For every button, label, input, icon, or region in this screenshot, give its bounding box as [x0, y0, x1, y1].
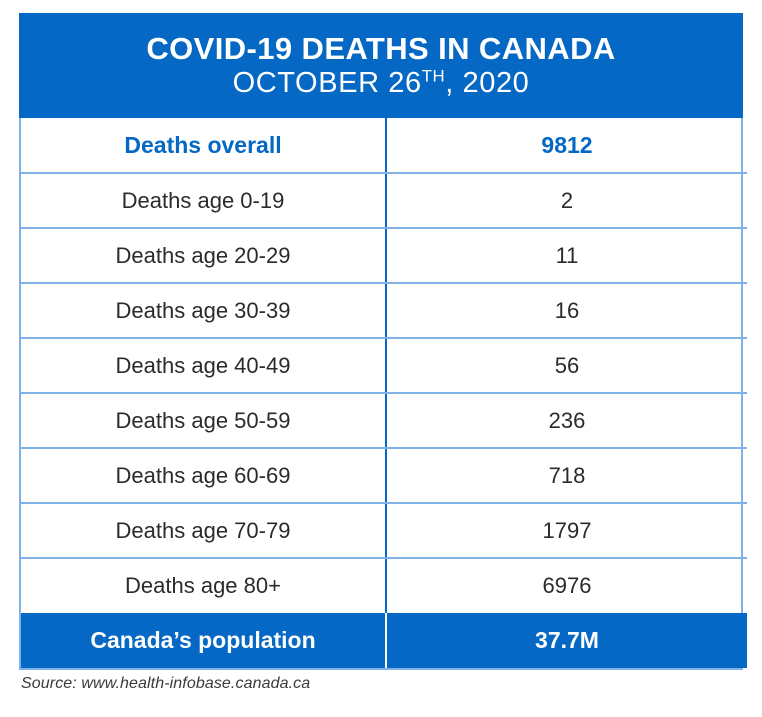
table-row: Deaths age 60-69 718	[21, 448, 747, 503]
row-label: Deaths age 30-39	[21, 283, 386, 338]
row-value: 2	[386, 173, 747, 228]
stats-table-container: Deaths overall 9812 Deaths age 0-19 2 De…	[19, 118, 743, 670]
row-label: Deaths age 0-19	[21, 173, 386, 228]
row-value: 37.7M	[386, 613, 747, 668]
header-banner: COVID-19 DEATHS IN CANADA OCTOBER 26TH, …	[19, 13, 743, 118]
table-row-population: Canada’s population 37.7M	[21, 613, 747, 668]
row-label: Canada’s population	[21, 613, 386, 668]
stats-table: Deaths overall 9812 Deaths age 0-19 2 De…	[21, 118, 747, 668]
table-row: Deaths age 80+ 6976	[21, 558, 747, 613]
row-label: Deaths overall	[21, 118, 386, 173]
row-value: 56	[386, 338, 747, 393]
subtitle-ordinal-suffix: TH	[422, 67, 445, 86]
row-value: 1797	[386, 503, 747, 558]
table-row: Deaths age 0-19 2	[21, 173, 747, 228]
page-subtitle-date: OCTOBER 26TH, 2020	[233, 68, 530, 100]
row-label: Deaths age 80+	[21, 558, 386, 613]
row-value: 6976	[386, 558, 747, 613]
covid-deaths-infographic: COVID-19 DEATHS IN CANADA OCTOBER 26TH, …	[0, 0, 762, 717]
table-row: Deaths overall 9812	[21, 118, 747, 173]
row-value: 718	[386, 448, 747, 503]
row-value: 236	[386, 393, 747, 448]
row-label: Deaths age 50-59	[21, 393, 386, 448]
row-value: 11	[386, 228, 747, 283]
row-label: Deaths age 40-49	[21, 338, 386, 393]
row-label: Deaths age 70-79	[21, 503, 386, 558]
table-row: Deaths age 70-79 1797	[21, 503, 747, 558]
subtitle-date-suffix: , 2020	[445, 67, 529, 99]
table-row: Deaths age 50-59 236	[21, 393, 747, 448]
row-label: Deaths age 20-29	[21, 228, 386, 283]
row-value: 9812	[386, 118, 747, 173]
table-row: Deaths age 40-49 56	[21, 338, 747, 393]
table-row: Deaths age 20-29 11	[21, 228, 747, 283]
row-value: 16	[386, 283, 747, 338]
page-title: COVID-19 DEATHS IN CANADA	[146, 33, 615, 66]
source-attribution: Source: www.health-infobase.canada.ca	[21, 675, 310, 693]
subtitle-date-prefix: OCTOBER 26	[233, 67, 422, 99]
table-row: Deaths age 30-39 16	[21, 283, 747, 338]
stats-table-body: Deaths overall 9812 Deaths age 0-19 2 De…	[21, 118, 747, 668]
row-label: Deaths age 60-69	[21, 448, 386, 503]
